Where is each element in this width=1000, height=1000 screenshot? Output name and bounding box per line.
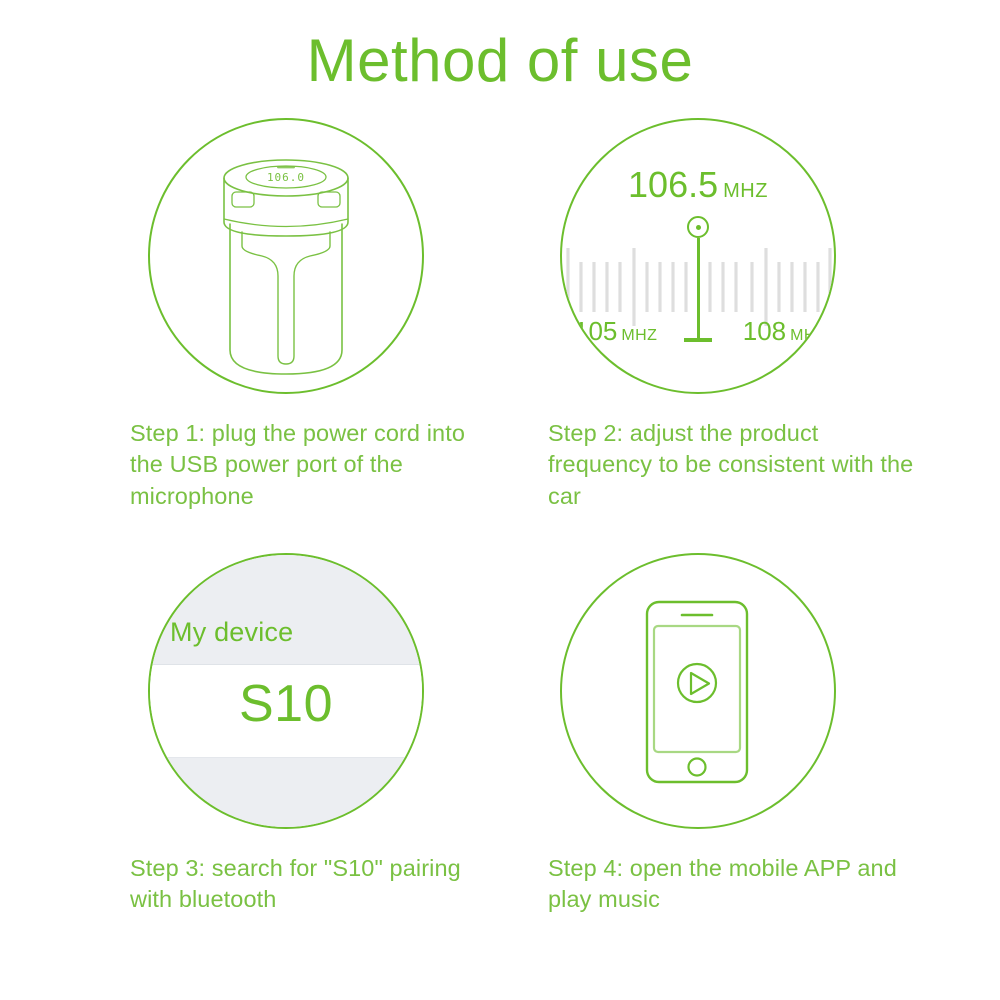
frequency-min-label: 105MHZ — [574, 316, 657, 347]
frequency-readout: 106.5MHZ — [562, 164, 834, 206]
phone-home-button — [689, 759, 706, 776]
frequency-max-label: 108MHZ — [743, 316, 826, 347]
step-3-illustration: My device S10 — [148, 553, 424, 829]
step-1-circle: 106.0 — [148, 118, 424, 394]
device-list-header-band — [150, 555, 422, 665]
frequency-dial[interactable]: 106.5MHZ — [562, 120, 834, 392]
frequency-slider-base — [684, 338, 712, 342]
step-3-circle: My device S10 — [148, 553, 424, 829]
step-4-caption: Step 4: open the mobile APP and play mus… — [548, 853, 918, 916]
smartphone-icon — [562, 555, 834, 827]
play-icon — [691, 673, 709, 694]
step-2-circle: 106.5MHZ — [560, 118, 836, 394]
frequency-min-unit: MHZ — [621, 327, 657, 344]
method-of-use-page: Method of use — [0, 0, 1000, 1000]
frequency-max-value: 108 — [743, 316, 786, 346]
device-list-footer-band — [150, 757, 422, 827]
step-2-illustration: 106.5MHZ — [560, 118, 836, 394]
step-card-3: My device S10 Step 3: search for "S10" p… — [130, 553, 550, 916]
frequency-value: 106.5 — [628, 164, 718, 205]
step-1-illustration: 106.0 — [148, 118, 424, 394]
step-card-4: Step 4: open the mobile APP and play mus… — [548, 553, 968, 916]
device-list-device-name[interactable]: S10 — [150, 674, 422, 734]
page-title: Method of use — [0, 26, 1000, 95]
frequency-min-value: 105 — [574, 316, 617, 346]
step-4-circle — [560, 553, 836, 829]
step-2-caption: Step 2: adjust the product frequency to … — [548, 418, 918, 512]
play-button-circle — [678, 664, 716, 702]
step-card-1: 106.0 Step 1: plug the power cord into t… — [130, 118, 550, 512]
fm-transmitter-device-icon: 106.0 — [150, 120, 422, 392]
phone-body — [647, 602, 747, 782]
phone-screen — [654, 626, 740, 752]
steps-grid: 106.0 Step 1: plug the power cord into t… — [0, 118, 1000, 988]
frequency-slider-stem — [697, 238, 700, 340]
device-list-header-label: My device — [170, 617, 293, 648]
step-card-2: 106.5MHZ — [548, 118, 968, 512]
device-display-value: 106.0 — [267, 171, 305, 184]
step-4-illustration — [560, 553, 836, 829]
frequency-max-unit: MHZ — [790, 327, 826, 344]
frequency-slider-knob[interactable] — [687, 216, 709, 238]
frequency-unit: MHZ — [723, 180, 768, 202]
step-3-caption: Step 3: search for "S10" pairing with bl… — [130, 853, 500, 916]
step-1-caption: Step 1: plug the power cord into the USB… — [130, 418, 500, 512]
